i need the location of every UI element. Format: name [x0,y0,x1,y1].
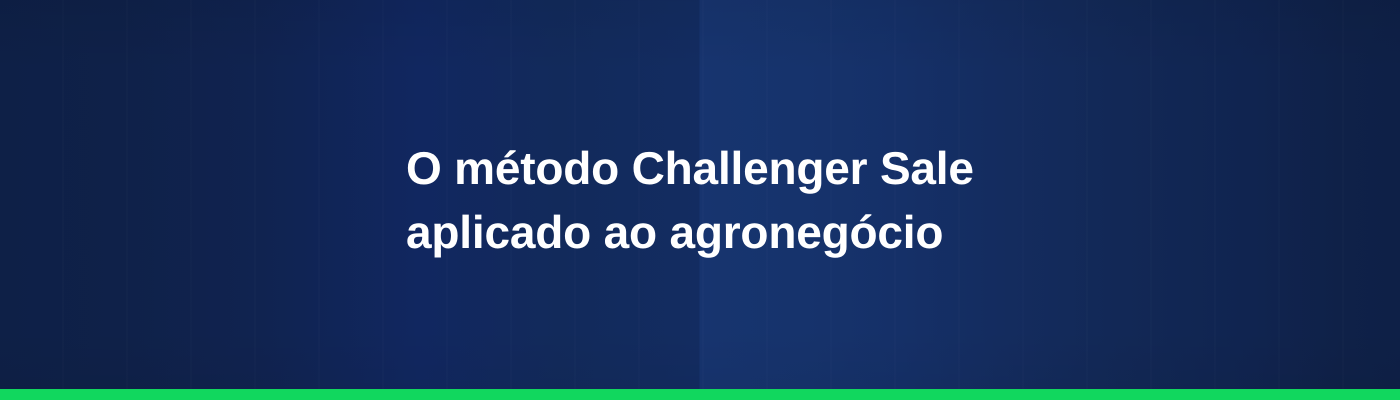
hero-banner: O método Challenger Sale aplicado ao agr… [0,0,1400,400]
headline-line-1: O método Challenger Sale [406,136,974,200]
banner-headline: O método Challenger Sale aplicado ao agr… [406,136,974,264]
bottom-accent-bar [0,389,1400,400]
headline-line-2: aplicado ao agronegócio [406,200,974,264]
